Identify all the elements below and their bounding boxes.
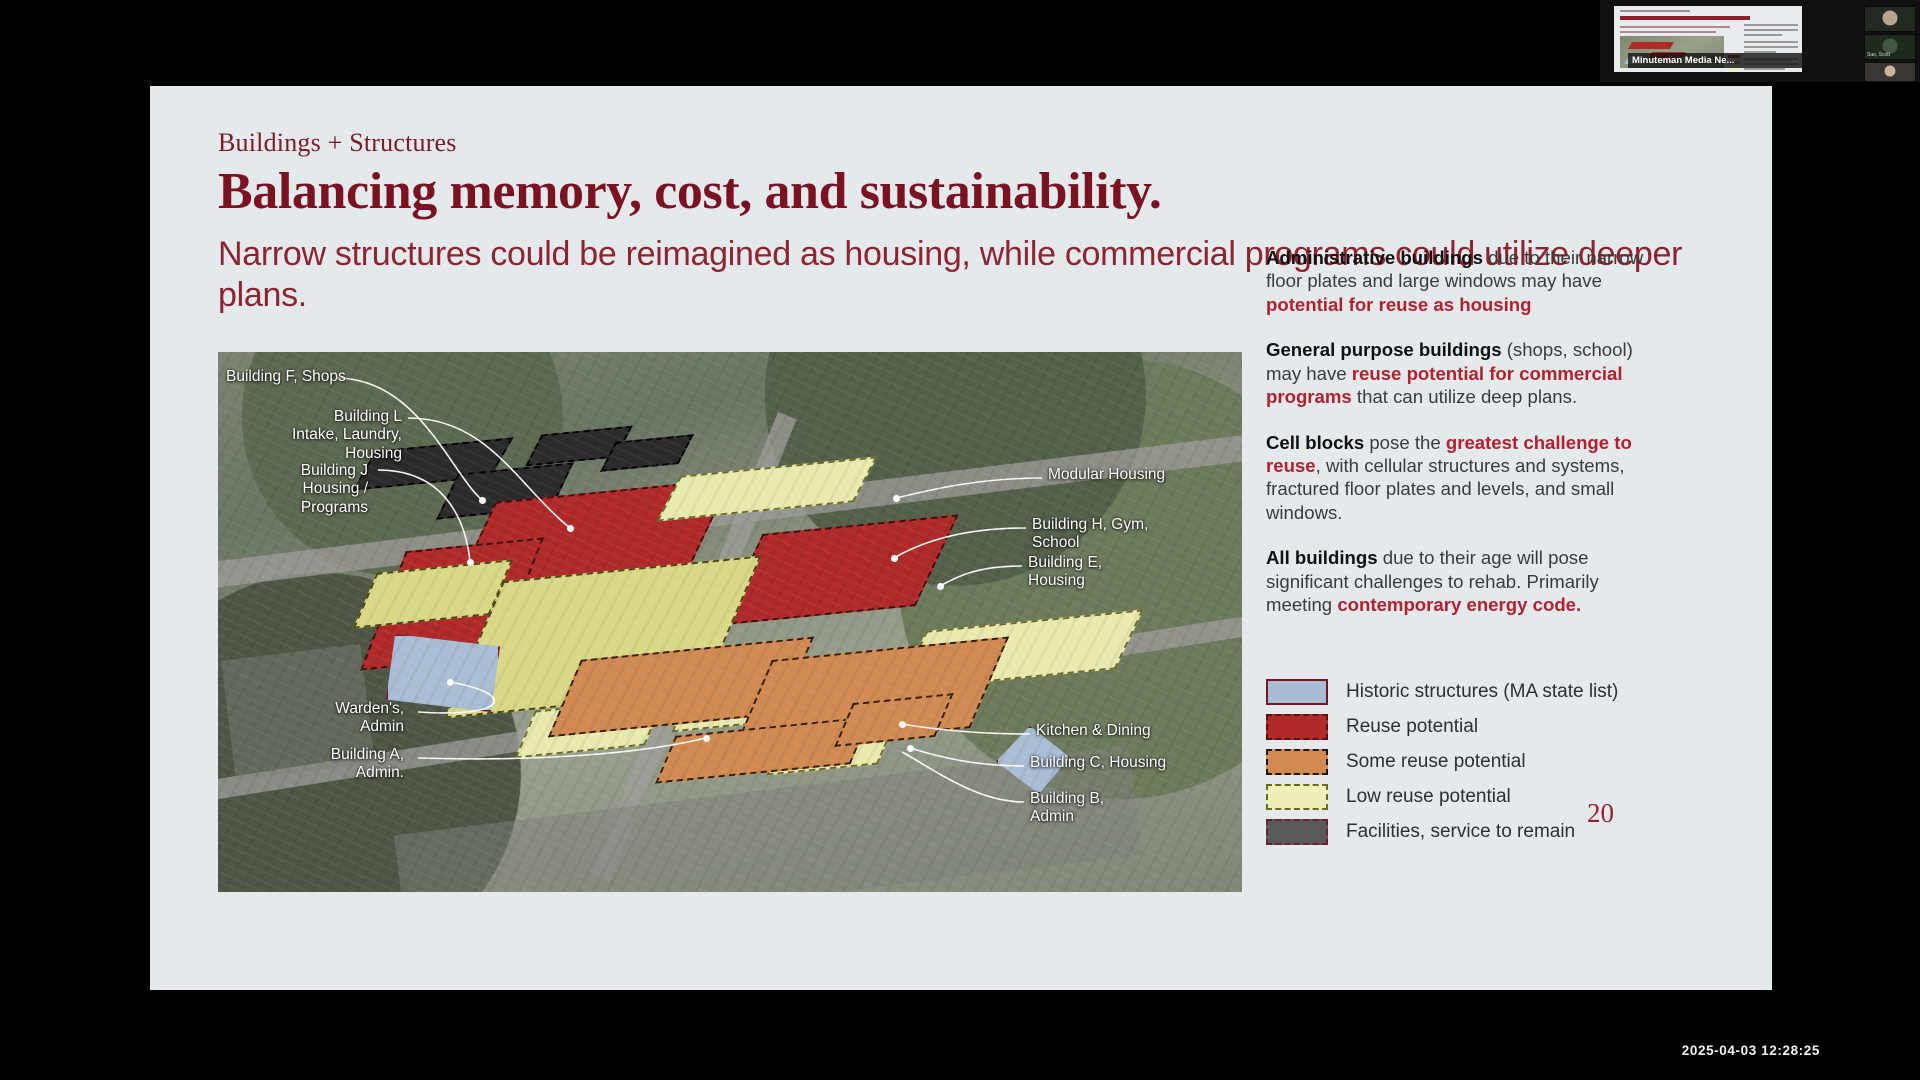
aerial-site-map: Building F, Shops Building L Intake, Lau… [218, 352, 1242, 892]
map-anchor-dot [891, 555, 898, 562]
avatar [1885, 66, 1896, 77]
slide-headline: Balancing memory, cost, and sustainabili… [218, 162, 1161, 221]
legend-label-some-reuse: Some reuse potential [1346, 751, 1526, 773]
legend-swatch-low-reuse-icon [1266, 784, 1328, 810]
map-label-building-j: Building J Housing / Programs [218, 462, 368, 517]
note-all-buildings: All buildings due to their age will pose… [1266, 546, 1658, 616]
legend-swatch-historic-icon [1266, 679, 1328, 705]
map-anchor-dot [907, 745, 914, 752]
map-label-wardens-admin: Warden's, Admin [218, 700, 404, 737]
slide-page-number: 20 [1587, 798, 1614, 829]
map-label-modular-housing: Modular Housing [1048, 466, 1238, 484]
pip-thumb-line [1620, 26, 1730, 28]
map-label-building-h: Building H, Gym, School [1032, 516, 1232, 553]
map-anchor-dot [447, 679, 454, 686]
legend-label-reuse: Reuse potential [1346, 716, 1478, 738]
video-conference-stage: Buildings + Structures Balancing memory,… [0, 0, 1920, 1080]
pip-shared-screen-thumbnail[interactable]: Minuteman Media Ne... [1614, 6, 1802, 72]
map-anchor-dot [893, 495, 900, 502]
pip-thumb-eyebrow [1620, 10, 1690, 12]
slide-eyebrow: Buildings + Structures [218, 128, 457, 158]
map-label-building-e: Building E, Housing [1028, 554, 1228, 591]
note-administrative: Administrative buildings due to their na… [1266, 246, 1658, 316]
map-anchor-dot [567, 525, 574, 532]
pip-thumb-title [1620, 16, 1750, 20]
map-label-building-l: Building L Intake, Laundry, Housing [218, 408, 402, 463]
map-anchor-dot [703, 735, 710, 742]
legend-swatch-reuse-icon [1266, 714, 1328, 740]
map-label-building-a: Building A, Admin. [218, 746, 404, 783]
map-label-building-c: Building C, Housing [1030, 754, 1240, 772]
note-general-purpose: General purpose buildings (shops, school… [1266, 338, 1658, 408]
avatar [1883, 11, 1898, 26]
legend-item-historic: Historic structures (MA state list) [1266, 674, 1666, 709]
map-anchor-dot [937, 583, 944, 590]
pip-thumb-line [1620, 31, 1716, 33]
picture-in-picture-strip[interactable]: Minuteman Media Ne... Sue, Scott [1600, 0, 1920, 82]
pip-participant-tile-3[interactable] [1864, 62, 1916, 82]
map-anchor-dot [467, 559, 474, 566]
notes-column: Administrative buildings due to their na… [1266, 246, 1658, 638]
pip-caption-label: Minuteman Media Ne... [1628, 53, 1802, 68]
legend-label-facilities: Facilities, service to remain [1346, 821, 1575, 843]
pip-participant-tile-2[interactable]: Sue, Scott [1864, 34, 1916, 60]
map-anchor-dot [899, 721, 906, 728]
legend-swatch-some-reuse-icon [1266, 749, 1328, 775]
pip-thumb-blob-icon [1628, 42, 1674, 49]
legend-item-reuse: Reuse potential [1266, 709, 1666, 744]
map-label-building-f: Building F, Shops [226, 368, 426, 386]
presentation-slide: Buildings + Structures Balancing memory,… [150, 86, 1772, 990]
pip-participant-name: Sue, Scott [1867, 52, 1890, 58]
map-label-building-b: Building B, Admin [1030, 790, 1230, 827]
legend-label-low-reuse: Low reuse potential [1346, 786, 1511, 808]
legend-label-historic: Historic structures (MA state list) [1346, 681, 1618, 703]
legend-item-some-reuse: Some reuse potential [1266, 744, 1666, 779]
recording-timestamp: 2025-04-03 12:28:25 [1682, 1043, 1820, 1058]
pip-participant-tile-1[interactable] [1864, 6, 1916, 32]
map-label-kitchen-dining: Kitchen & Dining [1036, 722, 1236, 740]
note-cell-blocks: Cell blocks pose the greatest challenge … [1266, 431, 1658, 525]
map-anchor-dot [479, 497, 486, 504]
legend-swatch-facilities-icon [1266, 819, 1328, 845]
